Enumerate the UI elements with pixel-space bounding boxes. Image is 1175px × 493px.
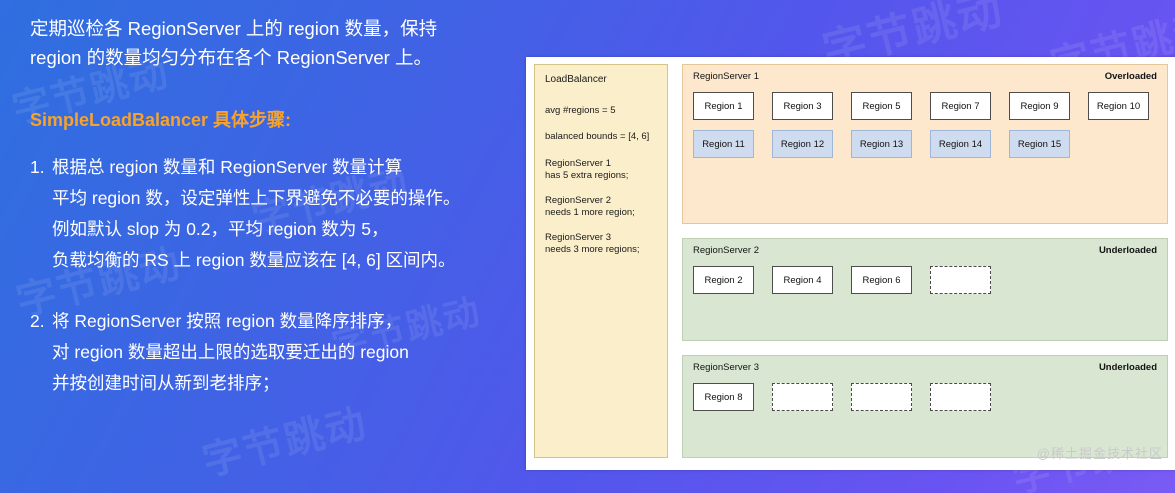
section-title: SimpleLoadBalancer 具体步骤: [30, 106, 520, 132]
text-column: 定期巡检各 RegionServer 上的 region 数量，保持 regio… [30, 14, 520, 429]
balanced-bounds-text: balanced bounds = [4, 6] [545, 131, 657, 144]
step-number: 1. [30, 152, 52, 276]
region-server-header: RegionServer 2 Underloaded [693, 245, 1157, 256]
region-server-name: RegionServer 1 [693, 71, 759, 82]
region-box[interactable]: Region 2 [693, 266, 754, 294]
intro-paragraph: 定期巡检各 RegionServer 上的 region 数量，保持 regio… [30, 14, 520, 72]
load-balancer-entry: RegionServer 3 needs 3 more regions; [545, 232, 657, 257]
region-box[interactable]: Region 3 [772, 92, 833, 120]
region-box[interactable]: Region 6 [851, 266, 912, 294]
region-server-status: Overloaded [1105, 71, 1157, 82]
step-body: 根据总 region 数量和 RegionServer 数量计算 平均 regi… [52, 152, 520, 276]
step-number: 2. [30, 306, 52, 399]
region-server-status: Underloaded [1099, 245, 1157, 256]
slide-root: 字节跳动 字节跳动 字节跳动 字节跳动 字节跳动 字节跳动 字节跳动 字节跳动 … [0, 0, 1175, 493]
region-box[interactable]: Region 13 [851, 130, 912, 158]
step-line: 根据总 region 数量和 RegionServer 数量计算 [52, 152, 520, 183]
region-slot-empty[interactable] [851, 383, 912, 411]
region-server-name: RegionServer 2 [693, 245, 759, 256]
entry-note: has 5 extra regions; [545, 170, 657, 183]
region-box[interactable]: Region 8 [693, 383, 754, 411]
step-line: 并按创建时间从新到老排序； [52, 368, 520, 399]
region-box[interactable]: Region 5 [851, 92, 912, 120]
intro-line: 定期巡检各 RegionServer 上的 region 数量，保持 [30, 14, 520, 43]
diagram-inner: LoadBalancer avg #regions = 5 balanced b… [534, 64, 1168, 458]
step-body: 将 RegionServer 按照 region 数量降序排序， 对 regio… [52, 306, 520, 399]
entry-note: needs 3 more regions; [545, 244, 657, 257]
region-box[interactable]: Region 10 [1088, 92, 1149, 120]
region-row: Region 8 [693, 383, 1157, 411]
region-row: Region 1 Region 3 Region 5 Region 7 Regi… [693, 92, 1157, 120]
region-box[interactable]: Region 1 [693, 92, 754, 120]
entry-server-name: RegionServer 3 [545, 232, 657, 245]
load-balancer-title: LoadBalancer [545, 74, 657, 87]
region-server-name: RegionServer 3 [693, 362, 759, 373]
region-box[interactable]: Region 7 [930, 92, 991, 120]
step-line: 对 region 数量超出上限的选取要迁出的 region [52, 337, 520, 368]
entry-server-name: RegionServer 1 [545, 158, 657, 171]
region-box[interactable]: Region 12 [772, 130, 833, 158]
region-box[interactable]: Region 4 [772, 266, 833, 294]
region-server-status: Underloaded [1099, 362, 1157, 373]
step-line: 例如默认 slop 为 0.2，平均 region 数为 5， [52, 214, 520, 245]
intro-line: region 的数量均匀分布在各个 RegionServer 上。 [30, 43, 520, 72]
region-server-list: RegionServer 1 Overloaded Region 1 Regio… [682, 64, 1168, 458]
region-box[interactable]: Region 14 [930, 130, 991, 158]
region-box[interactable]: Region 11 [693, 130, 754, 158]
region-box[interactable]: Region 9 [1009, 92, 1070, 120]
step-item: 2. 将 RegionServer 按照 region 数量降序排序， 对 re… [30, 306, 520, 399]
region-row: Region 11 Region 12 Region 13 Region 14 … [693, 130, 1157, 158]
region-server-header: RegionServer 1 Overloaded [693, 71, 1157, 82]
region-slot-empty[interactable] [930, 266, 991, 294]
load-balancer-entry: RegionServer 2 needs 1 more region; [545, 195, 657, 220]
region-server-panel: RegionServer 1 Overloaded Region 1 Regio… [682, 64, 1168, 224]
architecture-diagram: LoadBalancer avg #regions = 5 balanced b… [526, 57, 1175, 470]
step-line: 平均 region 数，设定弹性上下界避免不必要的操作。 [52, 183, 520, 214]
avg-regions-text: avg #regions = 5 [545, 105, 657, 118]
region-slot-empty[interactable] [930, 383, 991, 411]
region-box[interactable]: Region 15 [1009, 130, 1070, 158]
entry-server-name: RegionServer 2 [545, 195, 657, 208]
entry-note: needs 1 more region; [545, 207, 657, 220]
corner-watermark: @稀土掘金技术社区 [1037, 443, 1163, 462]
load-balancer-panel: LoadBalancer avg #regions = 5 balanced b… [534, 64, 668, 458]
region-server-panel: RegionServer 2 Underloaded Region 2 Regi… [682, 238, 1168, 341]
step-item: 1. 根据总 region 数量和 RegionServer 数量计算 平均 r… [30, 152, 520, 276]
region-slot-empty[interactable] [772, 383, 833, 411]
step-line: 将 RegionServer 按照 region 数量降序排序， [52, 306, 520, 337]
region-row: Region 2 Region 4 Region 6 [693, 266, 1157, 294]
load-balancer-entry: RegionServer 1 has 5 extra regions; [545, 158, 657, 183]
region-server-header: RegionServer 3 Underloaded [693, 362, 1157, 373]
step-line: 负载均衡的 RS 上 region 数量应该在 [4, 6] 区间内。 [52, 245, 520, 276]
